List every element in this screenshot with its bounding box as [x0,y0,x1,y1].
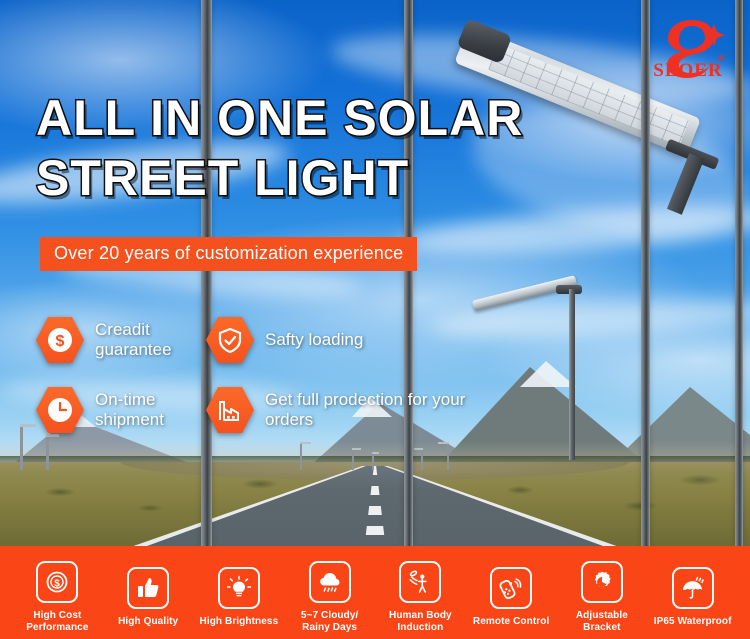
benefit-human-body-induction[interactable]: Human Body Induction [375,551,466,634]
benefit-label: Adjustable Bracket [557,610,648,634]
icon-frame [127,567,169,609]
icon-frame [399,561,441,603]
foreground-pole [201,0,212,546]
icon-frame [490,567,532,609]
feature-credit-guarantee: $ Creadit guarantee [36,305,206,375]
umbrella-rain-icon [680,575,706,601]
benefit-high-quality[interactable]: High Quality [103,557,194,628]
feature-safety-loading: Safty loading [206,305,496,375]
thumbs-up-icon [135,575,161,601]
dollar-circle-icon: $ [45,325,75,355]
benefit-label: High Quality [118,616,178,628]
distant-lamp-post [447,442,449,470]
foreground-pole [404,0,413,546]
remote-control-icon [498,575,524,601]
tagline-badge: Over 20 years of customization experienc… [40,237,417,271]
hex-badge: $ [36,316,84,364]
benefit-ip65-waterproof[interactable]: IP65 Waterproof [647,557,738,628]
benefit-label: High Cost Performance [26,610,88,634]
icon-frame [581,561,623,603]
gear-icon [589,569,615,595]
svg-text:$: $ [56,333,65,350]
icon-frame [309,561,351,603]
icon-frame [218,567,260,609]
hex-badge [206,386,254,434]
distant-lamp-post [421,448,423,470]
hex-badge [36,386,84,434]
motion-sensor-icon [407,569,433,595]
benefit-label: 5~7 Cloudy/ Rainy Days [301,610,359,634]
page-title: ALL IN ONE SOLAR STREET LIGHT [36,88,636,208]
feature-list: $ Creadit guarantee Safty loading [36,305,496,445]
lamp-pole [569,289,575,460]
benefit-label: Remote Control [473,616,549,628]
feature-on-time-shipment: On-time shipment [36,375,206,445]
background-scene [0,0,750,546]
foreground-pole [735,0,743,546]
headline-line-1: ALL IN ONE SOLAR [36,88,636,148]
benefit-high-brightness[interactable]: High Brightness [194,557,285,628]
dollar-coin-icon: $ [44,569,70,595]
icon-frame: $ [36,561,78,603]
lightbulb-icon [226,575,252,601]
feature-row: $ Creadit guarantee Safty loading [36,305,496,375]
distant-lamp-post [20,424,23,470]
icon-frame [672,567,714,609]
promo-banner: ® SLOER ALL IN ONE SOLAR STREET LIGHT Ov… [0,0,750,639]
benefit-cloudy-rainy-days[interactable]: 5~7 Cloudy/ Rainy Days [284,551,375,634]
brand-logo[interactable]: ® SLOER [640,14,736,80]
feature-full-protection: Get full prodection for your orders [206,375,496,445]
feature-label: Safty loading [265,330,363,350]
distant-lamp-post [352,448,354,470]
svg-text:$: $ [55,579,61,590]
benefit-remote-control[interactable]: Remote Control [466,557,557,628]
benefit-label: Human Body Induction [389,610,452,634]
svg-text:SLOER: SLOER [653,60,722,80]
headline-line-2: STREET LIGHT [36,148,636,208]
foreground-pole [641,0,650,546]
clock-icon [45,395,75,425]
factory-icon [216,396,244,424]
rain-cloud-icon [317,569,343,595]
hex-badge [206,316,254,364]
benefit-label: IP65 Waterproof [654,616,732,628]
benefit-strip: $ High Cost Performance High Quality [0,546,750,639]
benefit-high-cost-performance[interactable]: $ High Cost Performance [12,551,103,634]
feature-label: Get full prodection for your orders [265,390,480,430]
feature-label: On-time shipment [95,390,206,430]
feature-row: On-time shipment Get full prodection for… [36,375,496,445]
benefit-adjustable-bracket[interactable]: Adjustable Bracket [557,551,648,634]
shield-check-icon [216,326,244,354]
distant-lamp-post [300,442,302,470]
distant-lamp-post [372,452,374,470]
feature-label: Creadit guarantee [95,320,206,360]
swirl-s-star-icon: ® SLOER [640,14,736,80]
benefit-label: High Brightness [200,616,279,628]
